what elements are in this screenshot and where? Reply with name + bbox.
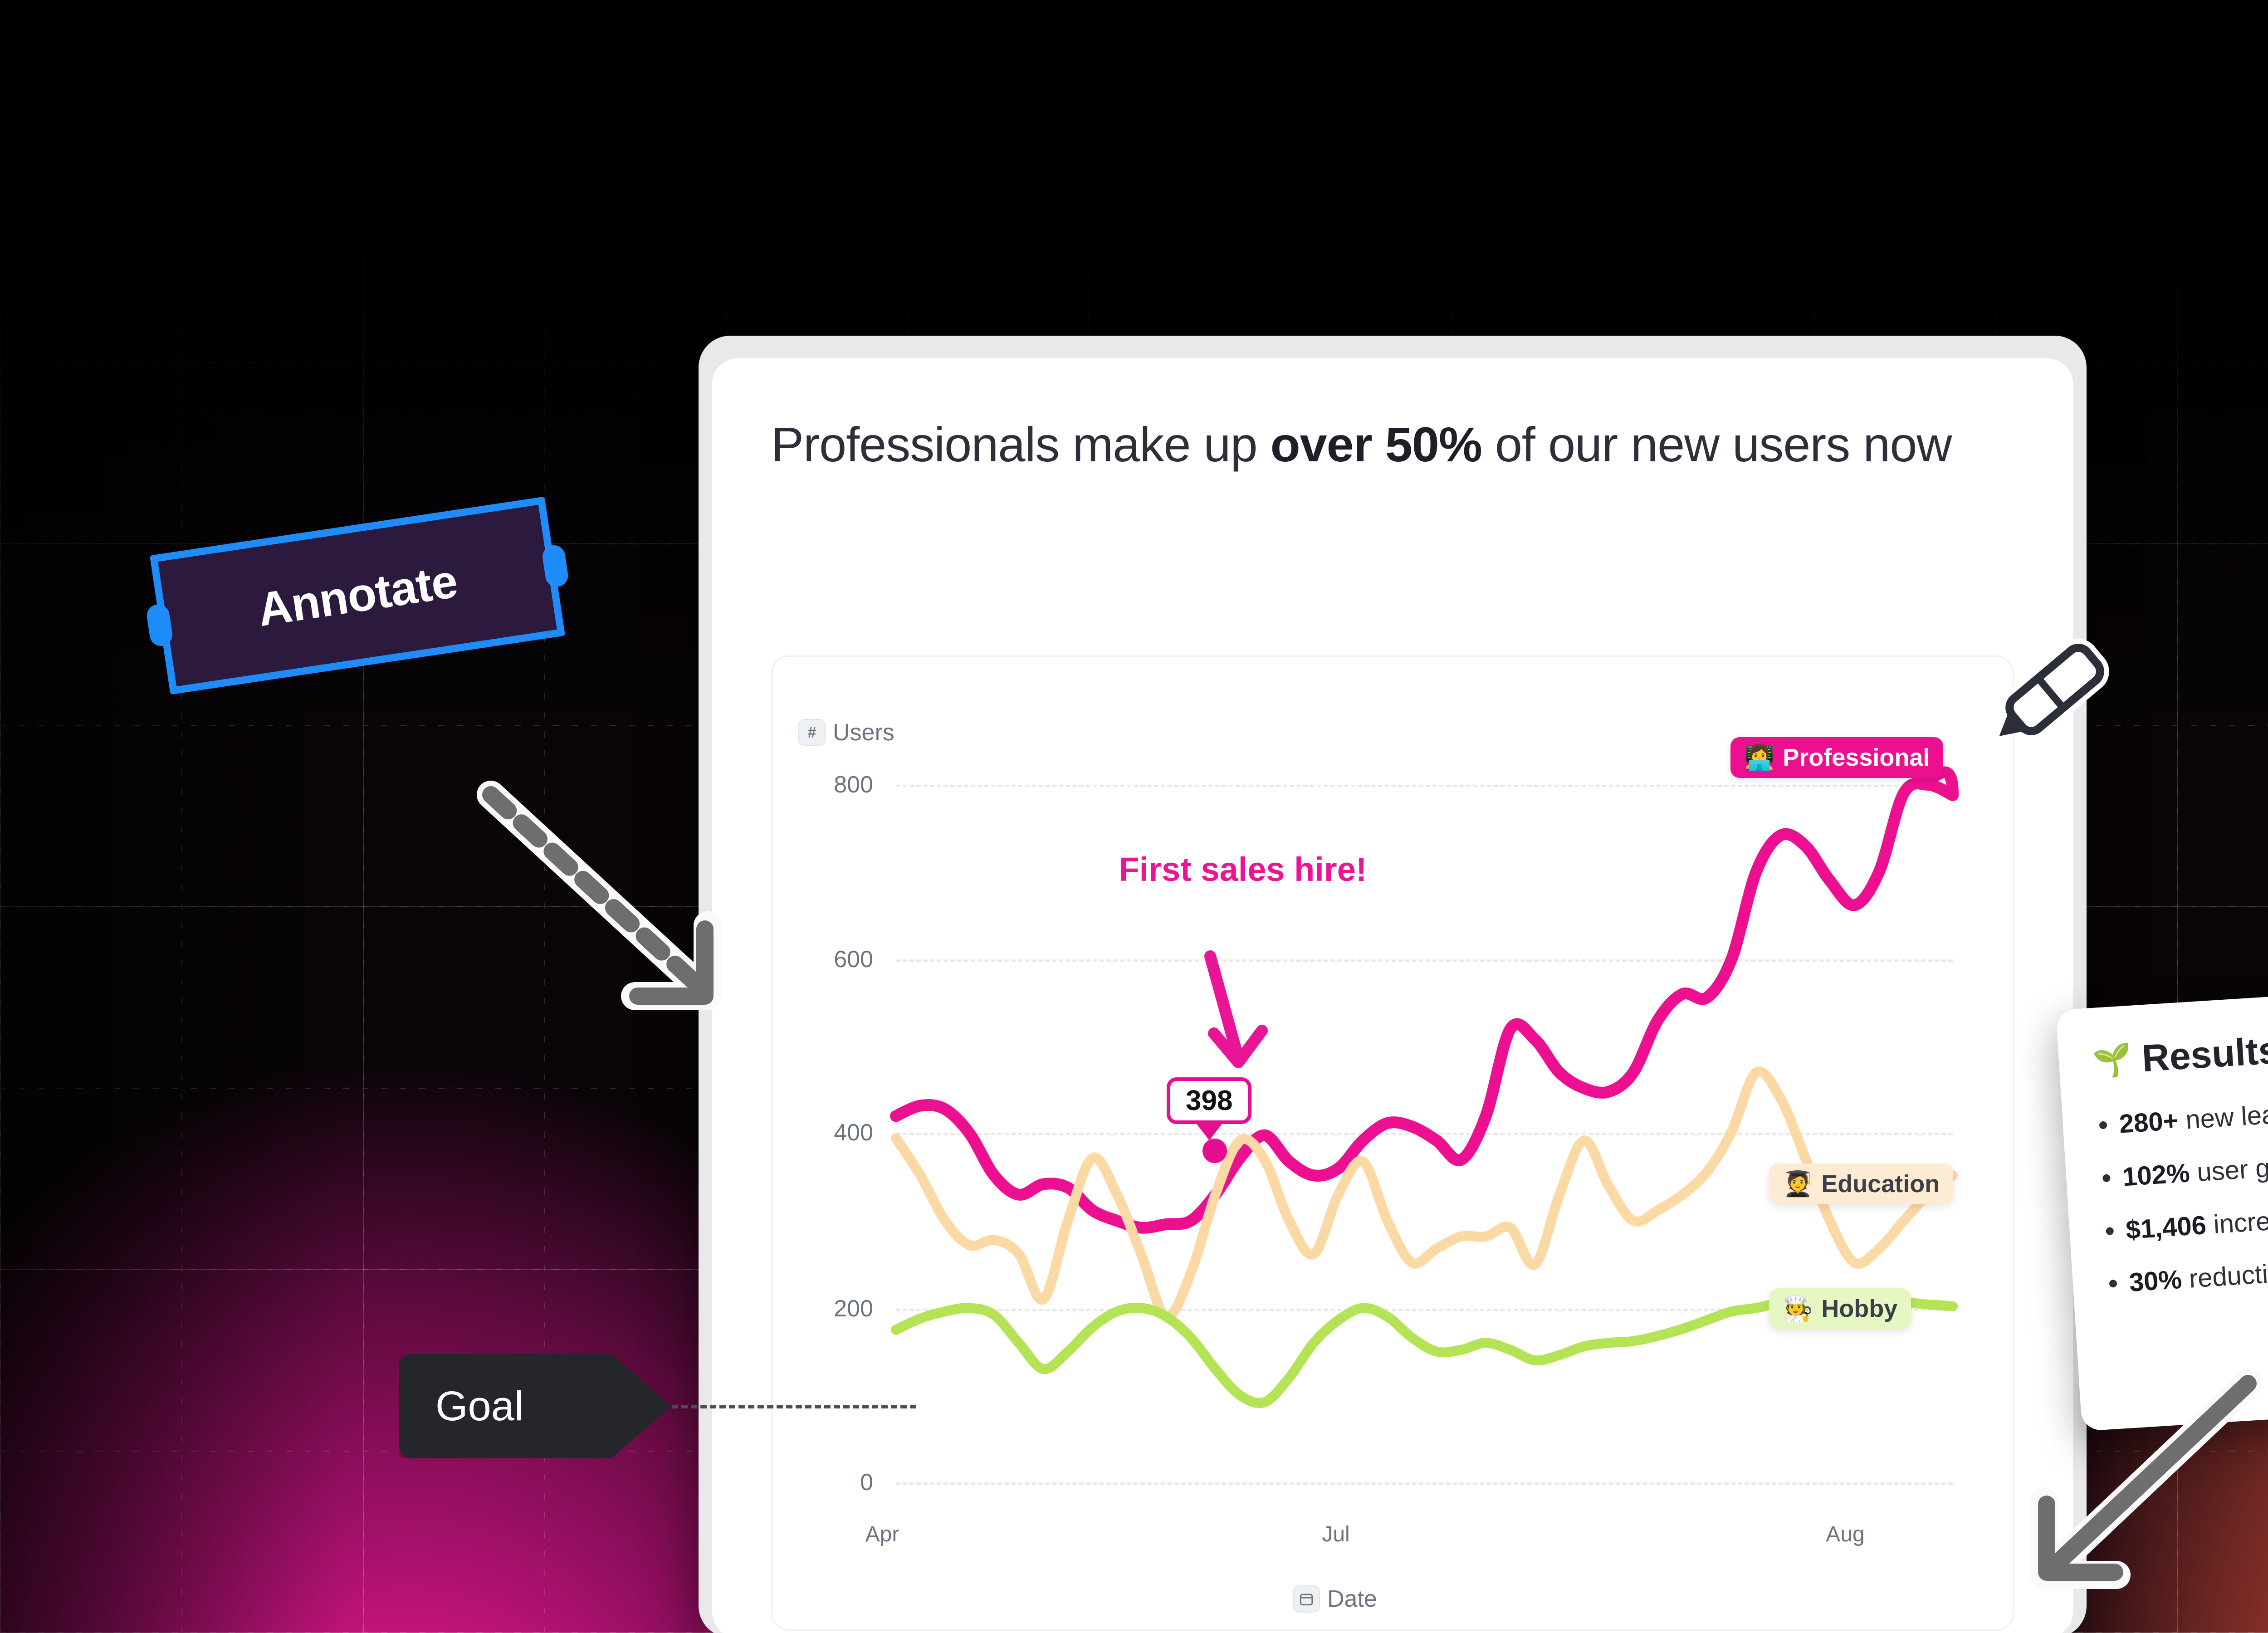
result-text: reduction in churn bbox=[2181, 1251, 2268, 1294]
seedling-icon: 🌱 bbox=[2092, 1041, 2133, 1080]
annotate-label: Annotate bbox=[254, 554, 460, 637]
results-card[interactable]: 🌱 Results 280+ new leads102% user growth… bbox=[2056, 978, 2268, 1431]
legend-label-professional: Professional bbox=[1783, 743, 1930, 772]
result-metric: 280+ bbox=[2118, 1106, 2179, 1139]
legend-label-hobby: Hobby bbox=[1821, 1295, 1897, 1323]
results-pointer-arrow-icon bbox=[1996, 1365, 2268, 1633]
series-line-professional bbox=[896, 783, 1953, 1228]
title-part-1: Professionals make up bbox=[771, 417, 1271, 472]
legend-label-education: Education bbox=[1821, 1170, 1940, 1198]
page-title: Professionals make up over 50% of our ne… bbox=[771, 413, 2023, 476]
hobby-emoji: 🧑‍🍳 bbox=[1783, 1296, 1813, 1321]
result-text: user growth bbox=[2189, 1149, 2268, 1188]
results-list: 280+ new leads102% user growth$1,406 inc… bbox=[2096, 1081, 2268, 1301]
results-heading-text: Results bbox=[2141, 1028, 2268, 1081]
title-highlight: over 50% bbox=[1271, 417, 1482, 472]
goal-label: Goal bbox=[435, 1383, 523, 1430]
professional-emoji: 👩‍💻 bbox=[1744, 745, 1774, 770]
result-text: increased MRR bbox=[2205, 1198, 2268, 1240]
pencil-icon[interactable] bbox=[1996, 633, 2114, 746]
annotation-arrow-icon bbox=[1161, 948, 1306, 1093]
education-emoji: 🧑‍🎓 bbox=[1783, 1172, 1813, 1196]
result-metric: 102% bbox=[2121, 1158, 2190, 1192]
legend-pill-professional[interactable]: 👩‍💻 Professional bbox=[1730, 737, 1943, 778]
result-metric: 30% bbox=[2128, 1265, 2183, 1297]
list-item: 102% user growth bbox=[2121, 1134, 2268, 1193]
annotation-first-sales-hire[interactable]: First sales hire! bbox=[1107, 851, 1379, 889]
list-item: 30% reduction in churn bbox=[2128, 1240, 2268, 1299]
list-item: 280+ new leads bbox=[2118, 1081, 2268, 1140]
legend-pill-hobby[interactable]: 🧑‍🍳 Hobby bbox=[1769, 1288, 1911, 1329]
result-text: new leads bbox=[2177, 1098, 2268, 1135]
title-part-2: of our new users now bbox=[1482, 417, 1952, 472]
screenshot-stage: Professionals make up over 50% of our ne… bbox=[0, 0, 2268, 1633]
list-item: $1,406 increased MRR bbox=[2125, 1187, 2268, 1246]
data-point-marker[interactable] bbox=[1202, 1139, 1227, 1163]
chart-series-canvas bbox=[771, 655, 2014, 1631]
legend-pill-education[interactable]: 🧑‍🎓 Education bbox=[1769, 1164, 1953, 1204]
annotate-pointer-arrow-icon bbox=[463, 762, 780, 1043]
result-metric: $1,406 bbox=[2125, 1210, 2207, 1245]
goal-dashed-line bbox=[662, 1405, 916, 1408]
results-heading: 🌱 Results bbox=[2091, 1011, 2268, 1084]
